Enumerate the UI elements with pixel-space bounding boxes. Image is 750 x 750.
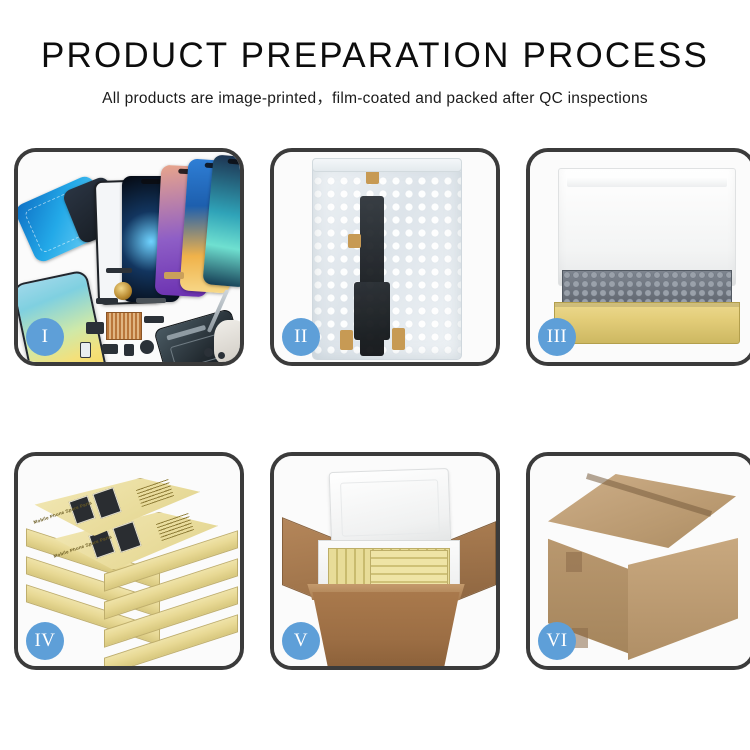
part-flex-cable — [136, 298, 166, 303]
step-badge-5: V — [282, 622, 320, 660]
step-badge-2: II — [282, 318, 320, 356]
flex-tab-bottom-right — [392, 328, 405, 350]
flex-tab-bottom-left — [340, 330, 353, 350]
chip-grid-part — [106, 312, 142, 340]
kraft-tray — [554, 302, 740, 344]
page-header: PRODUCT PREPARATION PROCESS All products… — [0, 0, 750, 108]
part-small-7 — [80, 342, 91, 358]
process-step-grid: I II III — [14, 148, 736, 670]
page-title: PRODUCT PREPARATION PROCESS — [0, 38, 750, 75]
foam-box-lid — [329, 468, 452, 550]
part-small-4 — [140, 340, 154, 354]
step-card-4[interactable]: Mobile Phone Spare Parts Mobile Phone Sp… — [14, 452, 244, 670]
flex-tab-mid — [348, 234, 361, 248]
screw-part-2 — [218, 352, 225, 359]
bag-seal — [312, 158, 462, 172]
notch-icon — [228, 159, 240, 165]
step-card-1[interactable]: I — [14, 148, 244, 366]
part-flex-gold — [164, 272, 184, 279]
carton-front-panel — [306, 592, 466, 666]
part-small-1 — [96, 298, 118, 304]
part-small-2 — [102, 344, 118, 354]
page-subtitle: All products are image-printed，film-coat… — [0, 86, 750, 108]
part-small-5 — [144, 316, 164, 323]
step-badge-6: VI — [538, 622, 576, 660]
step-card-6[interactable]: VI — [526, 452, 750, 670]
step-badge-4: IV — [26, 622, 64, 660]
notch-icon — [141, 179, 161, 184]
part-small-3 — [124, 344, 134, 356]
white-foam-lid — [558, 168, 736, 286]
screw-part-1 — [204, 348, 213, 357]
packed-part — [360, 196, 384, 356]
step-card-5[interactable]: V — [270, 452, 500, 670]
flex-tab-top — [366, 170, 379, 184]
step-card-3[interactable]: III — [526, 148, 750, 366]
part-strip — [106, 268, 132, 273]
step-badge-1: I — [26, 318, 64, 356]
step-card-2[interactable]: II — [270, 148, 500, 366]
carton-side-panel-right — [628, 538, 738, 660]
part-small-6 — [86, 322, 104, 334]
step-badge-3: III — [538, 318, 576, 356]
tape-patch-top — [566, 552, 582, 572]
